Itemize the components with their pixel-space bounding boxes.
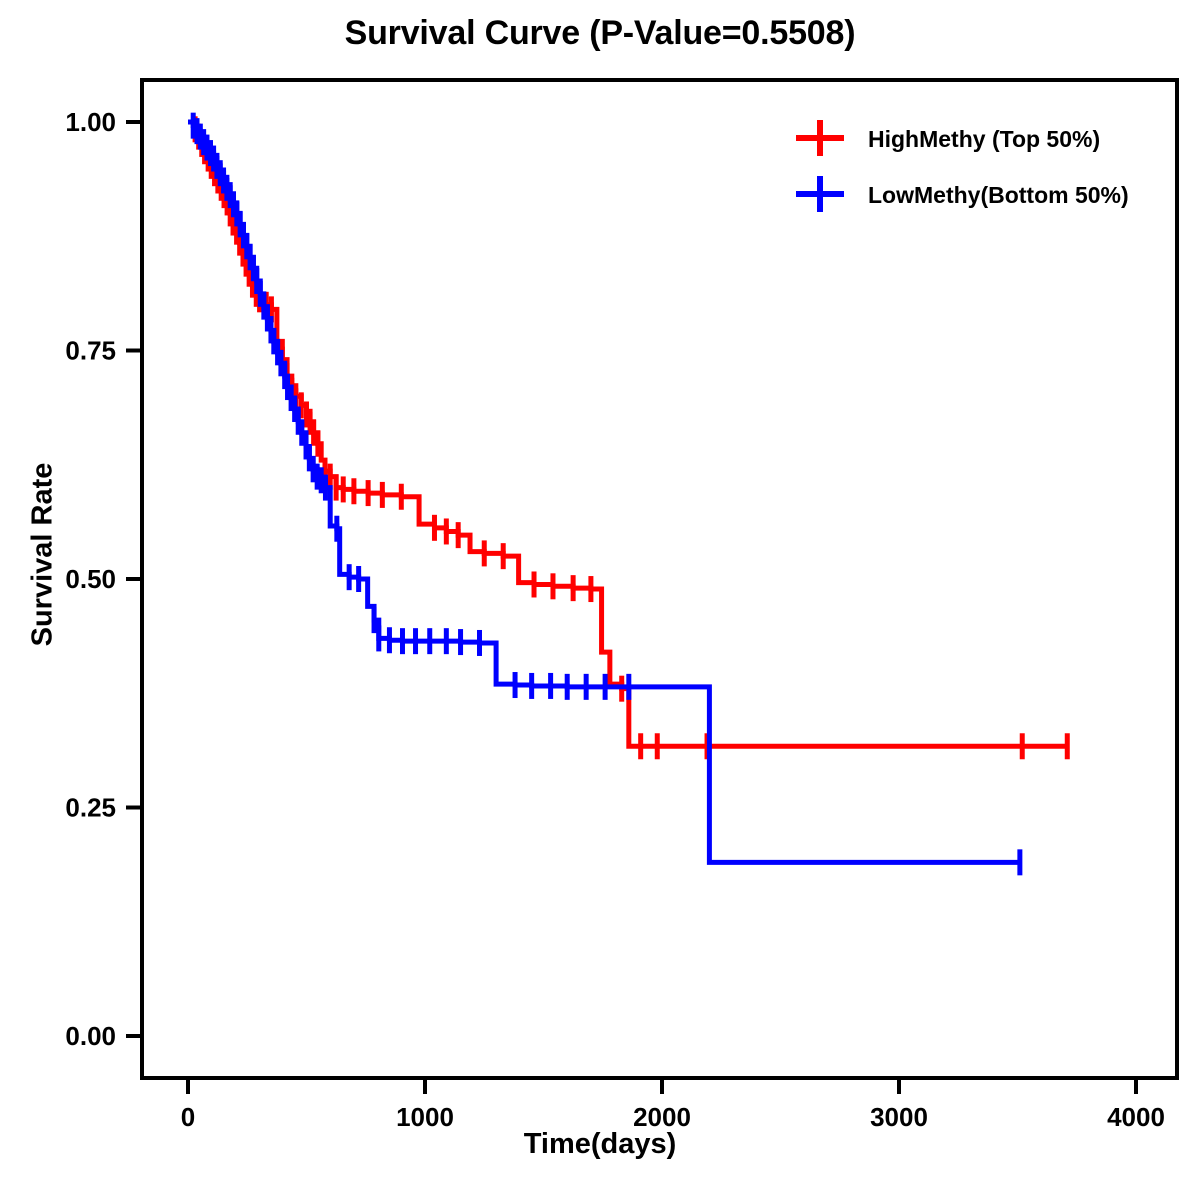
y-axis-tick-label: 0.50 [65, 564, 116, 594]
legend-entry[interactable]: LowMethy(Bottom 50%) [796, 176, 1129, 212]
x-axis-tick-label: 0 [181, 1102, 195, 1132]
y-axis-tick-label: 0.00 [65, 1021, 116, 1051]
x-axis-tick-label: 3000 [870, 1102, 928, 1132]
y-axis-tick-label: 0.75 [65, 336, 116, 366]
legend-label: HighMethy (Top 50%) [868, 126, 1100, 152]
x-axis-tick-label: 2000 [633, 1102, 691, 1132]
plot-frame [142, 80, 1177, 1078]
series-high-methy [188, 116, 1067, 759]
survival-step-line [188, 122, 1020, 862]
legend-label: LowMethy(Bottom 50%) [868, 182, 1129, 208]
plot-area: 010002000300040000.000.250.500.751.00Hig… [0, 0, 1200, 1200]
legend-entry[interactable]: HighMethy (Top 50%) [796, 120, 1100, 156]
x-axis-tick-label: 1000 [396, 1102, 454, 1132]
survival-curve-figure: Survival Curve (P-Value=0.5508) Survival… [0, 0, 1200, 1200]
y-axis-tick-label: 1.00 [65, 107, 116, 137]
y-axis-tick-label: 0.25 [65, 793, 116, 823]
x-axis-tick-label: 4000 [1107, 1102, 1165, 1132]
series-low-methy [188, 113, 1020, 876]
